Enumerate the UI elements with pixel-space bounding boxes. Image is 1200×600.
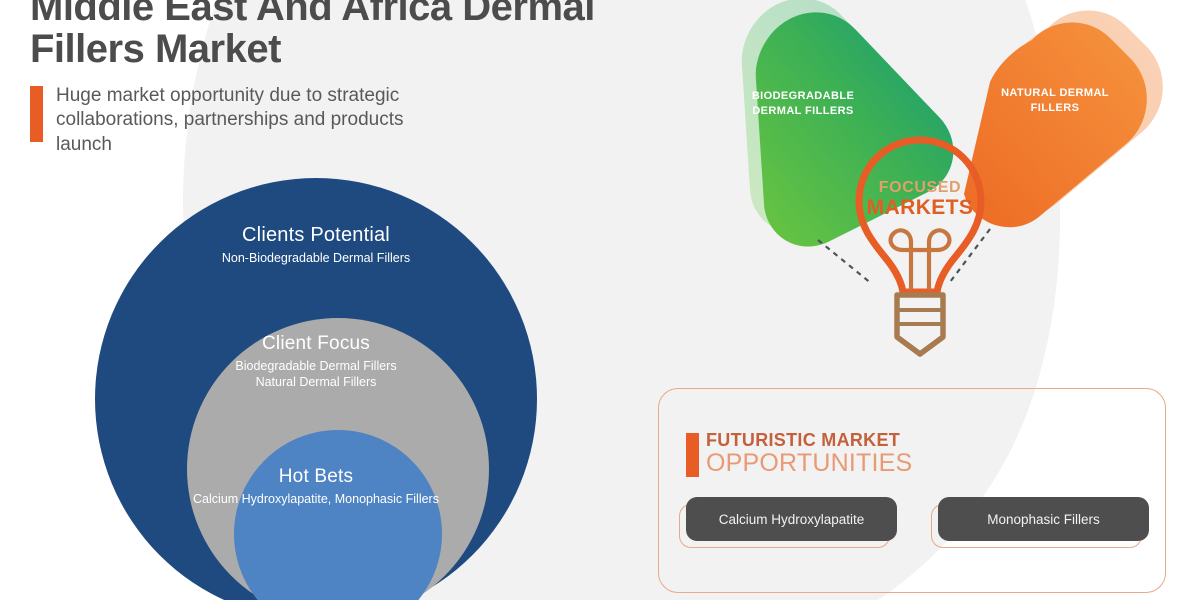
infographic-canvas: Middle East And Africa Dermal Fillers Ma…	[0, 0, 1200, 600]
client-focus-subtitle-1: Biodegradable Dermal Fillers	[95, 359, 537, 375]
concentric-circles-diagram: Clients Potential Non-Biodegradable Derm…	[95, 178, 537, 600]
opportunity-label-2: Monophasic Fillers	[987, 512, 1100, 527]
panel-accent-bar	[686, 433, 699, 477]
panel-heading: FUTURISTIC MARKET OPPORTUNITIES	[686, 431, 912, 477]
bulb-label-line1: FOCUSED	[845, 180, 995, 196]
futuristic-opportunities-panel: FUTURISTIC MARKET OPPORTUNITIES Calcium …	[658, 388, 1166, 593]
clients-potential-subtitle: Non-Biodegradable Dermal Fillers	[95, 251, 537, 267]
label-client-focus: Client Focus Biodegradable Dermal Filler…	[95, 333, 537, 390]
opportunity-label-1: Calcium Hydroxylapatite	[719, 512, 865, 527]
orange-blob-line2: FILLERS	[970, 101, 1140, 116]
bulb-label: FOCUSED MARKETS	[845, 180, 995, 219]
hot-bets-title: Hot Bets	[95, 466, 537, 488]
hot-bets-subtitle: Calcium Hydroxylapatite, Monophasic Fill…	[95, 492, 537, 508]
opportunity-list: Calcium Hydroxylapatite Monophasic Fille…	[686, 497, 1138, 541]
focused-markets-bulb: FOCUSED MARKETS	[845, 132, 995, 377]
client-focus-subtitle-2: Natural Dermal Fillers	[95, 375, 537, 391]
orange-blob-line1: NATURAL DERMAL	[970, 86, 1140, 101]
client-focus-title: Client Focus	[95, 333, 537, 355]
opportunity-item-monophasic-fillers[interactable]: Monophasic Fillers	[938, 497, 1149, 541]
label-clients-potential: Clients Potential Non-Biodegradable Derm…	[95, 224, 537, 267]
opportunity-item-calcium-hydroxylapatite[interactable]: Calcium Hydroxylapatite	[686, 497, 897, 541]
subtitle-accent-bar	[30, 86, 43, 142]
orange-blob-label: NATURAL DERMAL FILLERS	[970, 86, 1140, 116]
subtitle-block: Huge market opportunity due to strategic…	[30, 84, 630, 157]
bulb-label-line2: MARKETS	[845, 197, 995, 219]
panel-heading-line2: OPPORTUNITIES	[706, 450, 912, 476]
panel-heading-line1: FUTURISTIC MARKET	[706, 431, 912, 449]
subtitle-text: Huge market opportunity due to strategic…	[56, 84, 436, 157]
green-blob-line2: DERMAL FILLERS	[718, 104, 888, 119]
label-hot-bets: Hot Bets Calcium Hydroxylapatite, Monoph…	[95, 466, 537, 508]
page-title: Middle East And Africa Dermal Fillers Ma…	[30, 0, 610, 70]
opportunity-item-wrapper-2: Monophasic Fillers	[938, 497, 1149, 541]
opportunity-item-wrapper-1: Calcium Hydroxylapatite	[686, 497, 897, 541]
header: Middle East And Africa Dermal Fillers Ma…	[30, 0, 630, 157]
lightbulb-icon	[845, 132, 995, 377]
clients-potential-title: Clients Potential	[95, 224, 537, 247]
green-blob-line1: BIODEGRADABLE	[718, 89, 888, 104]
green-blob-label: BIODEGRADABLE DERMAL FILLERS	[718, 89, 888, 119]
